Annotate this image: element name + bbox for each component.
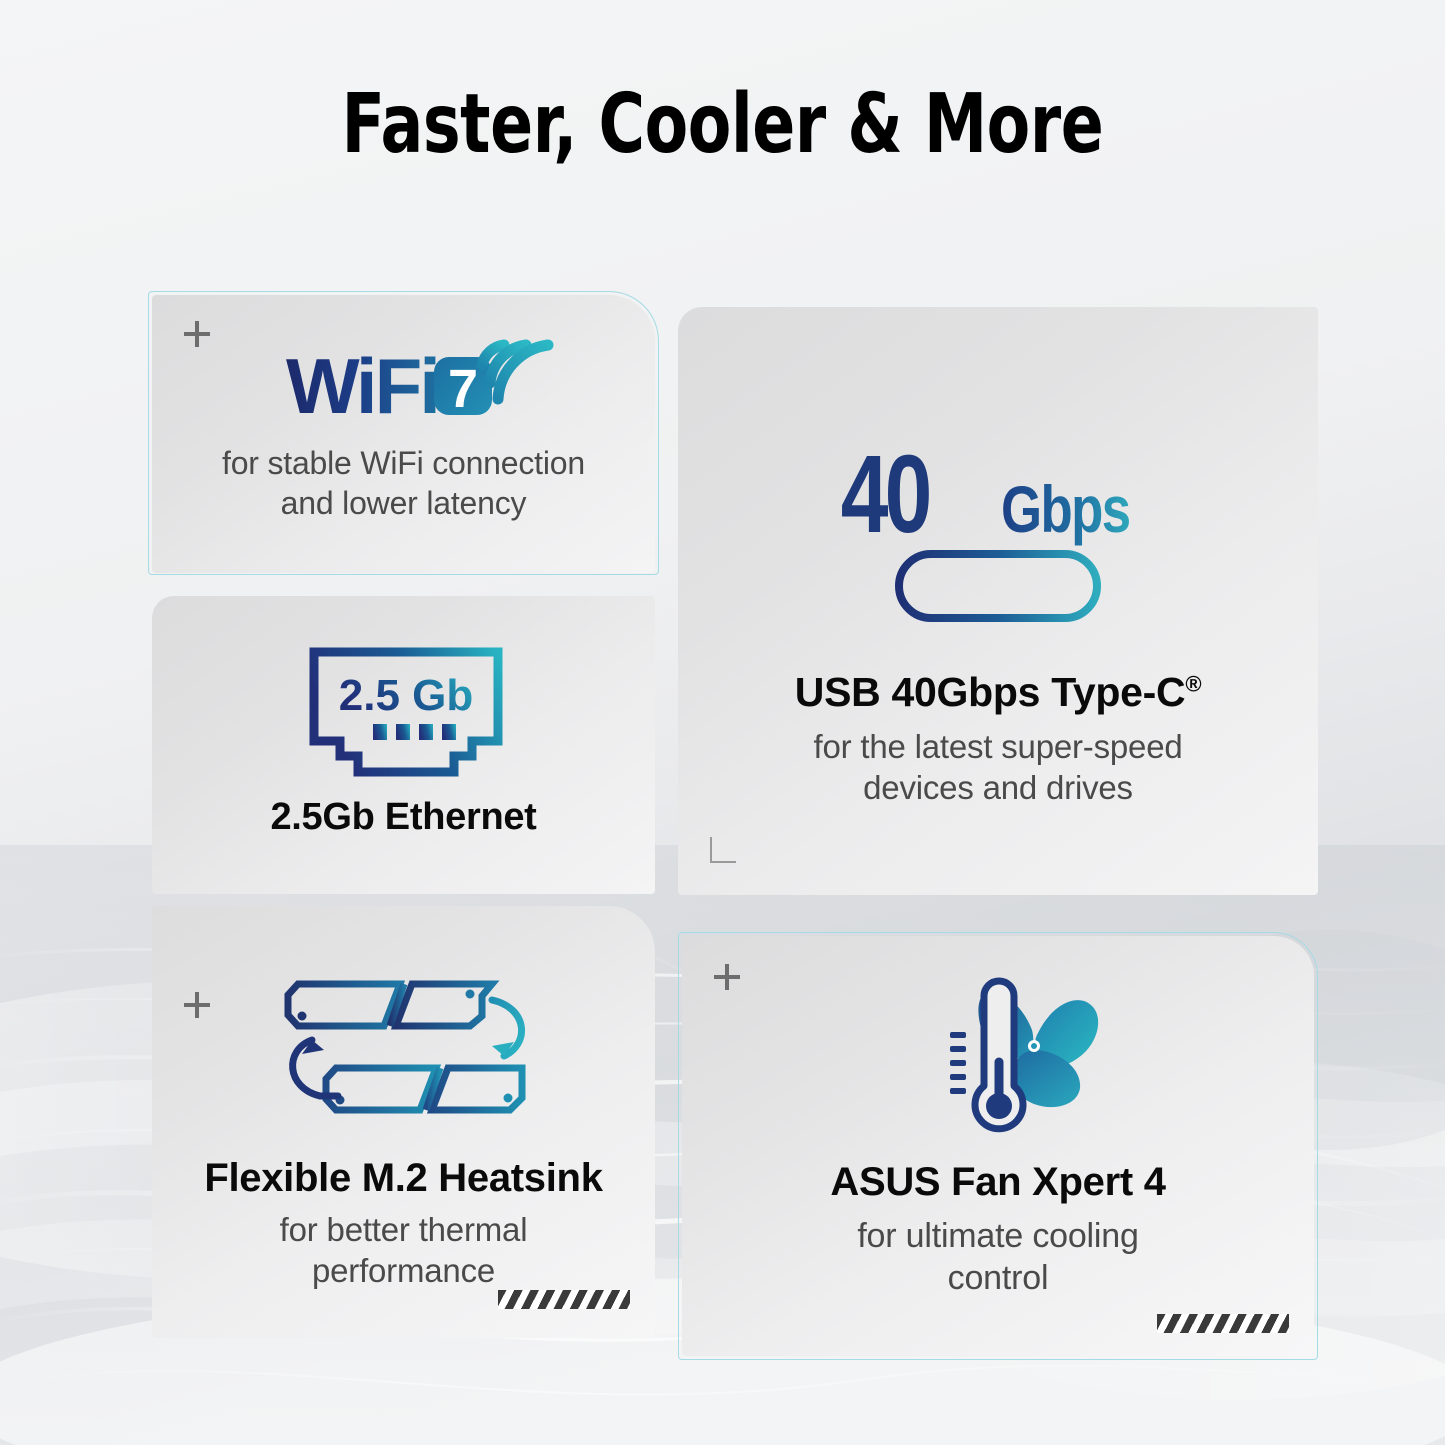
feature-card-usb[interactable]: 40 Gbps USB 40Gbps Type-C® for the lates…: [678, 307, 1318, 895]
corner-bracket-icon: [710, 837, 736, 863]
fan-caption: ASUS Fan Xpert 4: [678, 1160, 1318, 1205]
usb-subtitle-line1: for the latest super-speed: [678, 728, 1318, 767]
m2-subtitle-line2: performance: [152, 1252, 655, 1291]
page-title: Faster, Cooler & More: [101, 84, 1344, 166]
registered-mark-icon: ®: [1185, 671, 1201, 696]
m2-heatsink-rotation-icon: [278, 978, 528, 1118]
svg-text:WiFi: WiFi: [286, 342, 438, 430]
wifi-subtitle-line1: for stable WiFi connection: [152, 445, 655, 483]
usb-c-connector-icon: [895, 550, 1101, 622]
feature-card-fan-xpert[interactable]: ASUS Fan Xpert 4 for ultimate cooling co…: [678, 932, 1318, 1360]
usb-speed-value: 40: [841, 433, 929, 556]
wifi7-logo-icon: WiFi 7: [286, 337, 556, 429]
usb-caption: USB 40Gbps Type-C®: [678, 670, 1318, 716]
feature-card-m2-heatsink[interactable]: Flexible M.2 Heatsink for better thermal…: [152, 906, 655, 1338]
plus-mark-icon: [184, 992, 210, 1018]
fan-subtitle-line2: control: [678, 1258, 1318, 1298]
usb-speed-label: 40 Gbps: [833, 437, 1163, 547]
m2-subtitle-line1: for better thermal: [152, 1211, 655, 1250]
usb-speed-unit: Gbps: [1001, 472, 1130, 546]
wifi-subtitle-line2: and lower latency: [152, 485, 655, 523]
svg-text:7: 7: [448, 359, 478, 419]
usb-caption-text: USB 40Gbps Type-C: [795, 669, 1186, 715]
m2-caption: Flexible M.2 Heatsink: [152, 1156, 655, 1201]
plus-mark-icon: [714, 964, 740, 990]
ethernet-icon-label: 2.5 Gb: [339, 671, 474, 720]
feature-card-wifi7[interactable]: WiFi 7 for stable WiFi connection and lo…: [152, 295, 655, 573]
plus-mark-icon: [184, 321, 210, 347]
ethernet-port-icon: 2.5 Gb: [306, 644, 506, 784]
ethernet-caption: 2.5Gb Ethernet: [152, 796, 655, 839]
thermometer-fan-icon: [926, 978, 1098, 1142]
hatch-stripe-mark: [1157, 1314, 1289, 1333]
hatch-stripe-mark: [498, 1290, 630, 1309]
feature-card-ethernet[interactable]: 2.5 Gb 2.5Gb Ethernet: [152, 596, 655, 894]
usb-subtitle-line2: devices and drives: [678, 769, 1318, 808]
fan-subtitle-line1: for ultimate cooling: [678, 1216, 1318, 1256]
